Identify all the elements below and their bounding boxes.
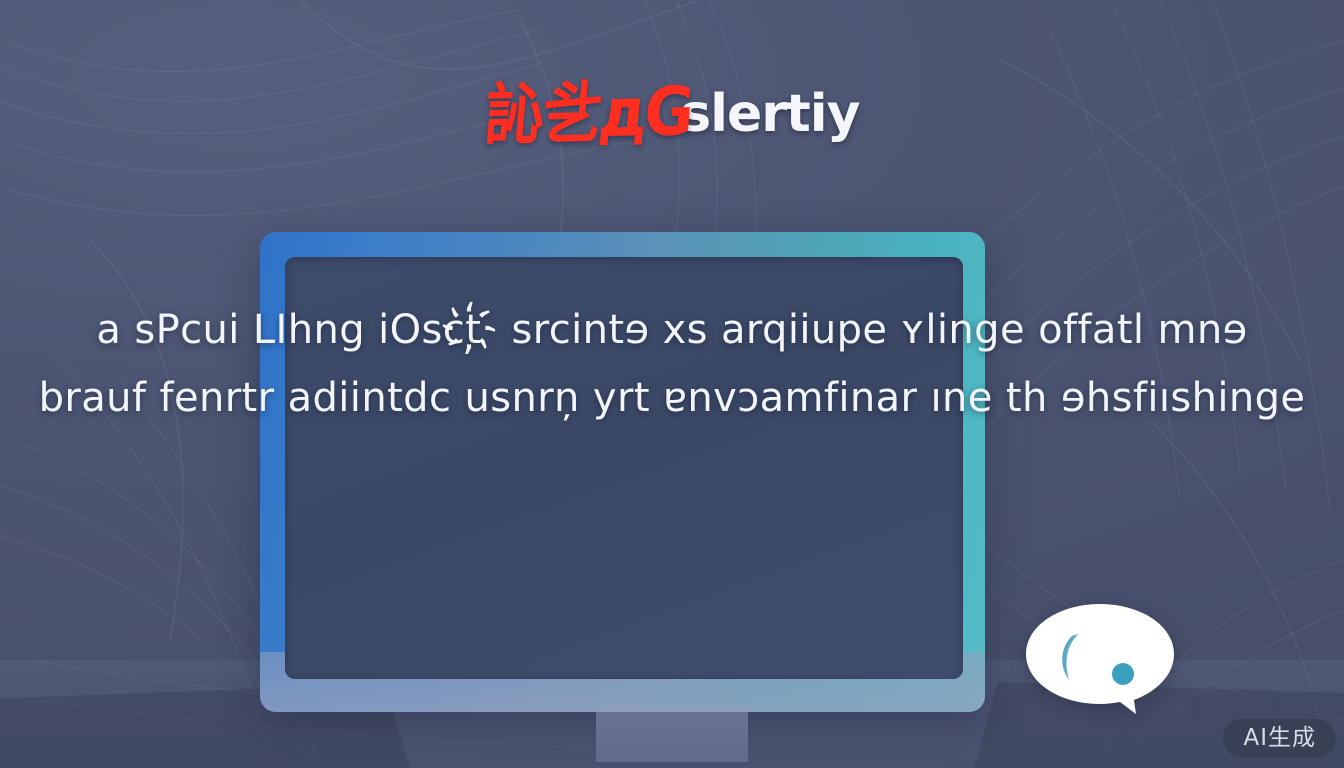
brand-logo: 訫乧дG slertiy <box>0 78 1344 150</box>
logo-word-text: slertiy <box>680 88 859 140</box>
monitor-stand <box>596 706 748 762</box>
poster-canvas: 訫乧дG slertiy a sPcui LIhng iOsct҉ srcint… <box>0 0 1344 768</box>
ai-generated-badge: AI生成 <box>1223 719 1336 758</box>
speech-bubble-icon <box>1024 602 1176 714</box>
logo-mark-text: 訫乧дG <box>481 78 693 149</box>
monitor-screen <box>285 257 963 679</box>
monitor-frame <box>260 232 985 712</box>
